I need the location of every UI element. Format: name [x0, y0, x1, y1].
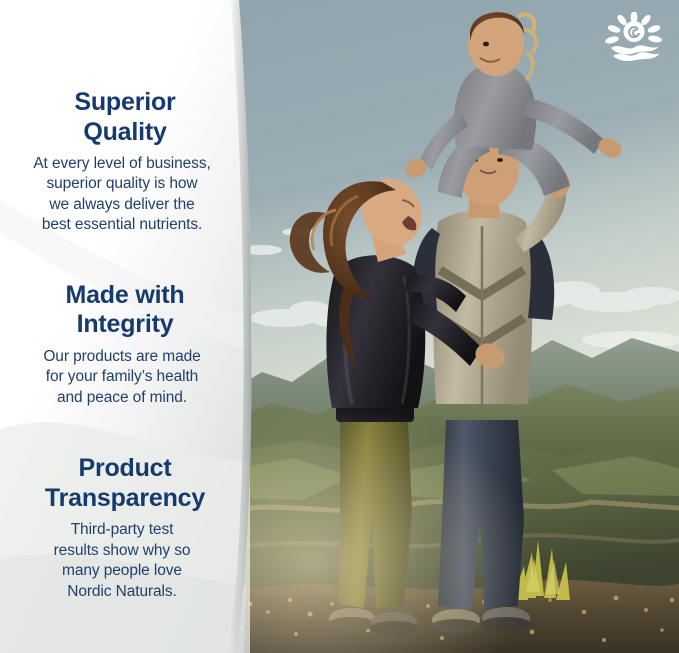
- body-line: At every level of business,: [0, 154, 244, 174]
- heading-line: Product: [6, 454, 244, 484]
- heading-line: Integrity: [6, 310, 244, 340]
- heading-line: Transparency: [6, 484, 244, 514]
- child-hoodie: [454, 66, 536, 150]
- value-prop-made-with-integrity: Made with Integrity Our products are mad…: [0, 236, 244, 408]
- value-prop-superior-quality: Superior Quality At every level of busin…: [0, 88, 244, 236]
- heading-superior-quality: Superior Quality: [6, 88, 244, 147]
- body-line: Third-party test: [0, 520, 244, 540]
- body-line: Nordic Naturals.: [0, 582, 244, 602]
- heading-line: Quality: [6, 118, 244, 148]
- body-line: for your family’s health: [0, 367, 244, 387]
- heading-product-transparency: Product Transparency: [6, 454, 244, 513]
- body-superior-quality: At every level of business, superior qua…: [0, 154, 244, 236]
- body-line: best essential nutrients.: [0, 215, 244, 235]
- body-line: and peace of mind.: [0, 388, 244, 408]
- body-line: results show why so: [0, 541, 244, 561]
- promo-banner: Superior Quality At every level of busin…: [0, 0, 679, 653]
- body-line: many people love: [0, 561, 244, 581]
- body-line: Our products are made: [0, 347, 244, 367]
- photo-illustration: [232, 0, 679, 653]
- body-line: we always deliver the: [0, 195, 244, 215]
- body-line: superior quality is how: [0, 174, 244, 194]
- heading-made-with-integrity: Made with Integrity: [6, 281, 244, 340]
- value-prop-product-transparency: Product Transparency Third-party test re…: [0, 408, 244, 602]
- lifestyle-photo: [232, 0, 679, 653]
- body-made-with-integrity: Our products are made for your family’s …: [0, 347, 244, 408]
- heading-line: Superior: [6, 88, 244, 118]
- body-product-transparency: Third-party test results show why so man…: [0, 520, 244, 602]
- value-props: Superior Quality At every level of busin…: [0, 0, 244, 653]
- heading-line: Made with: [6, 281, 244, 311]
